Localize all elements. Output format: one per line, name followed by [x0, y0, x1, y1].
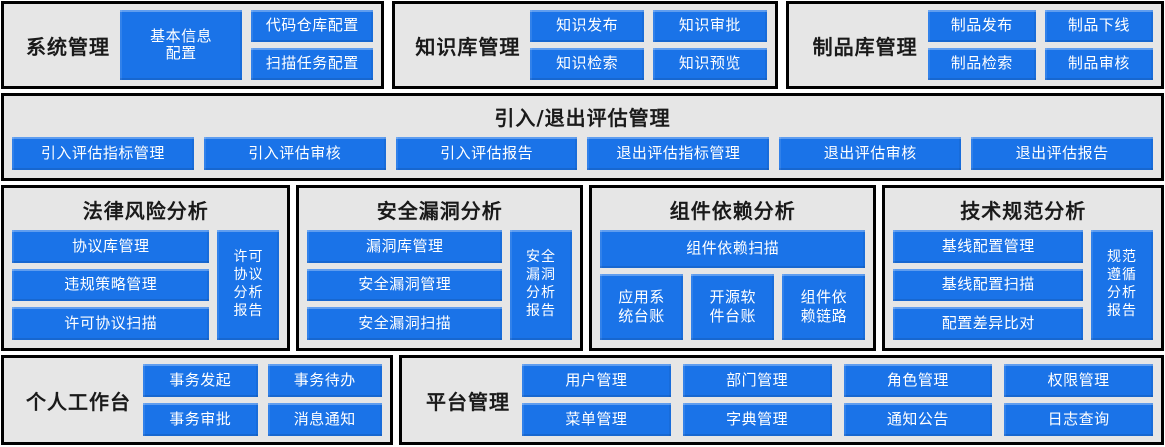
button-knowledge-approve[interactable]: 知识审批	[653, 10, 767, 42]
panel-title-system-management: 系统管理	[26, 31, 110, 60]
panel-knowledge-base-management: 知识库管理 知识发布 知识审批 知识检索 知识预览	[392, 1, 777, 89]
button-entry-eval-report[interactable]: 引入评估报告	[396, 137, 578, 170]
system-management-buttons: 基本信息 配置 代码仓库配置 扫描任务配置	[120, 10, 373, 80]
button-role-management[interactable]: 角色管理	[844, 364, 993, 397]
panel-personal-workbench: 个人工作台 事务发起 事务待办 事务审批 消息通知	[1, 355, 393, 445]
platform-management-buttons: 用户管理 部门管理 角色管理 权限管理 菜单管理 字典管理 通知公告 日志查询	[522, 364, 1153, 436]
technical-specification-analysis-body: 基线配置管理 基线配置扫描 配置差异比对 规范 遵循 分析 报告	[893, 230, 1153, 340]
panel-title-artifact-repository-management: 制品库管理	[813, 31, 918, 60]
button-task-initiate[interactable]: 事务发起	[143, 364, 258, 397]
button-entry-eval-indicator-management[interactable]: 引入评估指标管理	[12, 137, 194, 170]
button-license-analysis-report[interactable]: 许可 协议 分析 报告	[217, 230, 279, 340]
button-knowledge-preview[interactable]: 知识预览	[653, 48, 767, 80]
artifact-repository-buttons: 制品发布 制品下线 制品检索 制品审核	[928, 10, 1153, 80]
button-exit-eval-report[interactable]: 退出评估报告	[971, 137, 1153, 170]
button-license-agreement-scan[interactable]: 许可协议扫描	[12, 307, 209, 340]
button-scan-task-config[interactable]: 扫描任务配置	[251, 48, 373, 80]
panel-title-platform-management: 平台管理	[426, 386, 510, 415]
button-notice-announcement[interactable]: 通知公告	[844, 403, 993, 436]
component-dependency-buttons: 应用系 统台账 开源软 件台账 组件依 赖链路	[600, 274, 866, 340]
system-architecture-diagram: 系统管理 基本信息 配置 代码仓库配置 扫描任务配置 知识库管理 知识发布 知识…	[0, 0, 1165, 447]
legal-risk-analysis-body: 协议库管理 违规策略管理 许可协议扫描 许可 协议 分析 报告	[12, 230, 279, 340]
panel-technical-specification-analysis: 技术规范分析 基线配置管理 基线配置扫描 配置差异比对 规范 遵循 分析 报告	[882, 185, 1164, 351]
button-artifact-search[interactable]: 制品检索	[928, 48, 1036, 80]
panel-artifact-repository-management: 制品库管理 制品发布 制品下线 制品检索 制品审核	[786, 1, 1164, 89]
button-exit-eval-review[interactable]: 退出评估审核	[779, 137, 961, 170]
button-log-query[interactable]: 日志查询	[1004, 403, 1153, 436]
button-department-management[interactable]: 部门管理	[683, 364, 832, 397]
row-analysis-modules: 法律风险分析 协议库管理 违规策略管理 许可协议扫描 许可 协议 分析 报告 安…	[0, 185, 1165, 351]
panel-title-entry-exit-evaluation-management: 引入/退出评估管理	[12, 102, 1153, 131]
panel-title-legal-risk-analysis: 法律风险分析	[12, 195, 279, 224]
panel-entry-exit-evaluation-management: 引入/退出评估管理 引入评估指标管理 引入评估审核 引入评估报告 退出评估指标管…	[1, 93, 1164, 181]
button-dictionary-management[interactable]: 字典管理	[683, 403, 832, 436]
row-evaluation-management: 引入/退出评估管理 引入评估指标管理 引入评估审核 引入评估报告 退出评估指标管…	[0, 93, 1165, 181]
button-exit-eval-indicator-management[interactable]: 退出评估指标管理	[587, 137, 769, 170]
button-baseline-config-scan[interactable]: 基线配置扫描	[893, 269, 1083, 302]
button-component-dependency-chain[interactable]: 组件依 赖链路	[782, 274, 865, 340]
button-component-dependency-scan[interactable]: 组件依赖扫描	[600, 230, 866, 268]
panel-title-personal-workbench: 个人工作台	[26, 386, 131, 415]
panel-title-knowledge-base-management: 知识库管理	[415, 31, 520, 60]
button-knowledge-publish[interactable]: 知识发布	[530, 10, 644, 42]
knowledge-base-buttons: 知识发布 知识审批 知识检索 知识预览	[530, 10, 766, 80]
button-security-vulnerability-scan[interactable]: 安全漏洞扫描	[307, 307, 502, 340]
panel-title-component-dependency-analysis: 组件依赖分析	[600, 195, 866, 224]
button-artifact-offline[interactable]: 制品下线	[1045, 10, 1153, 42]
row-management-modules: 系统管理 基本信息 配置 代码仓库配置 扫描任务配置 知识库管理 知识发布 知识…	[0, 1, 1165, 89]
panel-system-management: 系统管理 基本信息 配置 代码仓库配置 扫描任务配置	[1, 1, 384, 89]
button-code-repo-config[interactable]: 代码仓库配置	[251, 10, 373, 42]
panel-platform-management: 平台管理 用户管理 部门管理 角色管理 权限管理 菜单管理 字典管理 通知公告 …	[399, 355, 1164, 445]
button-baseline-config-management[interactable]: 基线配置管理	[893, 230, 1083, 263]
row-workbench-and-platform: 个人工作台 事务发起 事务待办 事务审批 消息通知 平台管理 用户管理 部门管理…	[0, 355, 1165, 445]
security-vulnerability-analysis-body: 漏洞库管理 安全漏洞管理 安全漏洞扫描 安全 漏洞 分析 报告	[307, 230, 572, 340]
button-entry-eval-review[interactable]: 引入评估审核	[204, 137, 386, 170]
button-license-library-management[interactable]: 协议库管理	[12, 230, 209, 263]
button-permission-management[interactable]: 权限管理	[1004, 364, 1153, 397]
button-task-todo[interactable]: 事务待办	[268, 364, 383, 397]
button-user-management[interactable]: 用户管理	[522, 364, 671, 397]
button-task-approve[interactable]: 事务审批	[143, 403, 258, 436]
panel-component-dependency-analysis: 组件依赖分析 组件依赖扫描 应用系 统台账 开源软 件台账 组件依 赖链路	[589, 185, 877, 351]
button-message-notification[interactable]: 消息通知	[268, 403, 383, 436]
button-knowledge-search[interactable]: 知识检索	[530, 48, 644, 80]
button-vulnerability-library-management[interactable]: 漏洞库管理	[307, 230, 502, 263]
security-vulnerability-buttons: 漏洞库管理 安全漏洞管理 安全漏洞扫描	[307, 230, 502, 340]
evaluation-buttons: 引入评估指标管理 引入评估审核 引入评估报告 退出评估指标管理 退出评估审核 退…	[12, 137, 1153, 170]
technical-specification-buttons: 基线配置管理 基线配置扫描 配置差异比对	[893, 230, 1083, 340]
panel-title-technical-specification-analysis: 技术规范分析	[893, 195, 1153, 224]
panel-legal-risk-analysis: 法律风险分析 协议库管理 违规策略管理 许可协议扫描 许可 协议 分析 报告	[1, 185, 290, 351]
button-violation-policy-management[interactable]: 违规策略管理	[12, 269, 209, 302]
panel-title-security-vulnerability-analysis: 安全漏洞分析	[307, 195, 572, 224]
button-open-source-software-ledger[interactable]: 开源软 件台账	[691, 274, 774, 340]
button-security-vulnerability-report[interactable]: 安全 漏洞 分析 报告	[510, 230, 572, 340]
button-menu-management[interactable]: 菜单管理	[522, 403, 671, 436]
button-security-vulnerability-management[interactable]: 安全漏洞管理	[307, 269, 502, 302]
personal-workbench-buttons: 事务发起 事务待办 事务审批 消息通知	[143, 364, 382, 436]
button-config-difference-comparison[interactable]: 配置差异比对	[893, 307, 1083, 340]
button-specification-compliance-report[interactable]: 规范 遵循 分析 报告	[1091, 230, 1153, 340]
button-basic-info-config[interactable]: 基本信息 配置	[120, 10, 242, 80]
panel-security-vulnerability-analysis: 安全漏洞分析 漏洞库管理 安全漏洞管理 安全漏洞扫描 安全 漏洞 分析 报告	[296, 185, 583, 351]
button-artifact-review[interactable]: 制品审核	[1045, 48, 1153, 80]
button-application-system-ledger[interactable]: 应用系 统台账	[600, 274, 683, 340]
button-artifact-publish[interactable]: 制品发布	[928, 10, 1036, 42]
legal-risk-buttons: 协议库管理 违规策略管理 许可协议扫描	[12, 230, 209, 340]
component-dependency-analysis-body: 组件依赖扫描 应用系 统台账 开源软 件台账 组件依 赖链路	[600, 230, 866, 340]
